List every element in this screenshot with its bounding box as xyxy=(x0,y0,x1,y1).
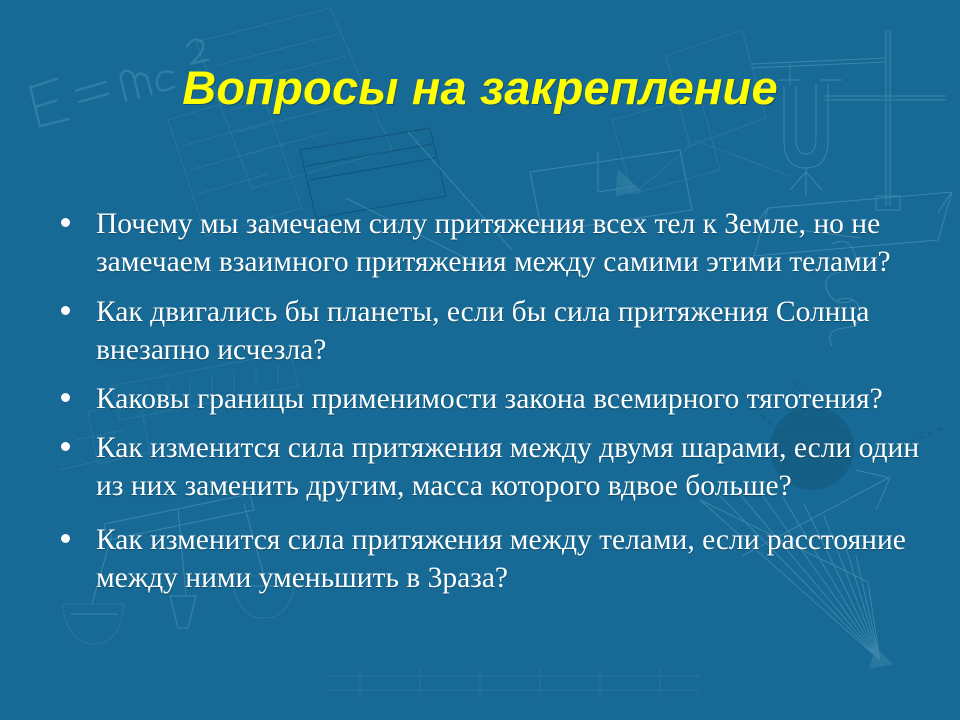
bullet-dot-icon xyxy=(61,218,70,227)
presentation-slide: Вопросы на закрепление Почему мы замечае… xyxy=(0,0,960,720)
bullet-dot-icon xyxy=(61,393,70,402)
bullet-dot-icon xyxy=(61,534,70,543)
question-text: Как двигались бы планеты, если бы сила п… xyxy=(96,293,928,369)
list-item: Как изменится сила притяжения между двум… xyxy=(44,429,928,505)
question-text: Как изменится сила притяжения между тела… xyxy=(96,521,928,597)
paper-sheets-sketch xyxy=(168,8,392,236)
list-item: Как двигались бы планеты, если бы сила п… xyxy=(44,293,928,369)
list-item: Как изменится сила притяжения между тела… xyxy=(44,521,928,597)
list-item: Почему мы замечаем силу притяжения всех … xyxy=(44,205,928,281)
question-text: Каковы границы применимости закона всеми… xyxy=(96,380,928,418)
question-list: Почему мы замечаем силу притяжения всех … xyxy=(44,205,928,597)
question-text: Почему мы замечаем силу притяжения всех … xyxy=(96,205,928,281)
bullet-dot-icon xyxy=(61,442,70,451)
question-text: Как изменится сила притяжения между двум… xyxy=(96,429,928,505)
list-item: Каковы границы применимости закона всеми… xyxy=(44,380,928,418)
slide-title: Вопросы на закрепление xyxy=(0,60,960,116)
grid-marks-sketch xyxy=(330,668,700,698)
bullet-dot-icon xyxy=(61,306,70,315)
